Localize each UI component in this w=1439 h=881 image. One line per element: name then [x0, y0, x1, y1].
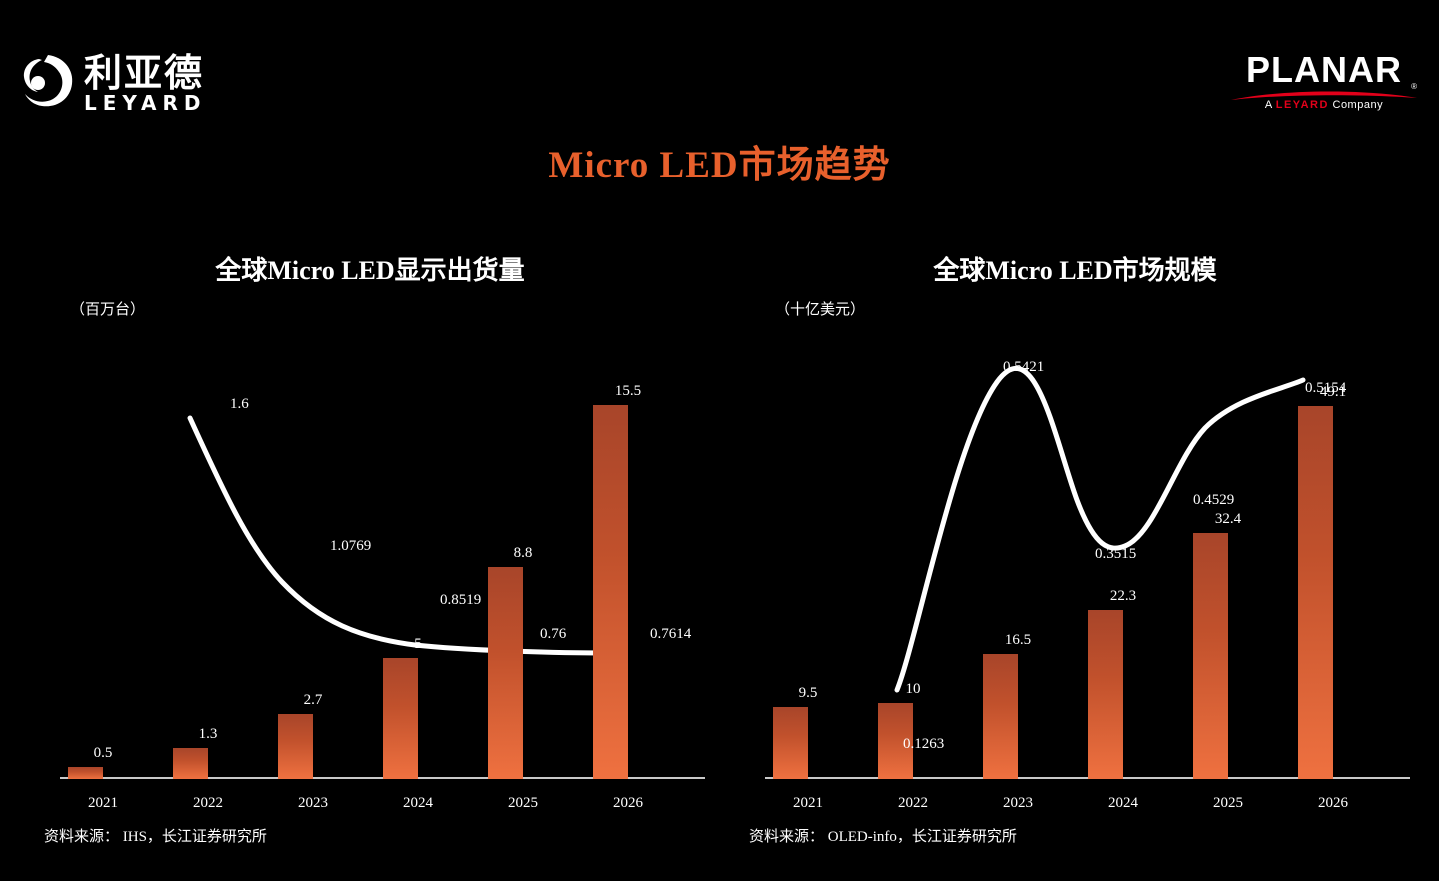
- leyard-logo: 利亚德 LEYARD: [18, 52, 218, 114]
- chart-unit-shipments: （百万台）: [70, 298, 145, 319]
- line-value-label-2025: 0.4529: [1193, 492, 1234, 509]
- planar-logo-word: PLANAR: [1229, 52, 1419, 88]
- slide-root: 利亚德 LEYARD PLANAR ® A LEYARD Company Mic…: [0, 0, 1439, 881]
- chart-panel-shipments: 全球Micro LED显示出货量 （百万台） 0.520211.320222.7…: [20, 240, 720, 860]
- x-axis-label-2021: 2021: [63, 795, 143, 812]
- bar-value-label-2024: 22.3: [1083, 588, 1163, 605]
- planar-logo: PLANAR ® A LEYARD Company: [1229, 52, 1419, 114]
- bar-2023: [983, 654, 1018, 779]
- line-value-label-2024: 0.8519: [440, 592, 481, 609]
- bar-2021: [68, 767, 103, 779]
- bar-value-label-2024: 5: [378, 636, 458, 653]
- bar-value-label-2021: 9.5: [768, 685, 848, 702]
- leyard-logo-english: LEYARD: [84, 92, 206, 114]
- leyard-swirl-icon: [18, 52, 76, 110]
- x-axis-label-2026: 2026: [588, 795, 668, 812]
- bar-value-label-2021: 0.5: [63, 745, 143, 762]
- bar-2025: [1193, 533, 1228, 779]
- line-value-label-2022: 1.6: [230, 396, 249, 413]
- bar-2022: [173, 748, 208, 779]
- x-axis-label-2026: 2026: [1293, 795, 1373, 812]
- line-value-label-2025: 0.76: [540, 626, 566, 643]
- bar-value-label-2022: 1.3: [168, 726, 248, 743]
- bar-value-label-2023: 2.7: [273, 692, 353, 709]
- chart-plot-area-shipments: 0.520211.320222.72023520248.8202515.5202…: [20, 320, 720, 820]
- line-value-label-2026: 0.5154: [1305, 380, 1346, 397]
- x-axis-label-2023: 2023: [273, 795, 353, 812]
- x-axis-label-2022: 2022: [168, 795, 248, 812]
- planar-tagline-prefix: A: [1265, 99, 1276, 111]
- bar-value-label-2025: 8.8: [483, 545, 563, 562]
- chart-source-shipments: 资料来源： IHS，长江证券研究所: [44, 825, 267, 846]
- leyard-logo-chinese: 利亚德: [84, 52, 204, 94]
- chart-source-market-size: 资料来源： OLED-info，长江证券研究所: [749, 825, 1017, 846]
- bar-2026: [1298, 406, 1333, 779]
- bar-value-label-2025: 32.4: [1188, 511, 1268, 528]
- bar-2025: [488, 567, 523, 779]
- x-axis-label-2025: 2025: [1188, 795, 1268, 812]
- line-value-label-2023: 1.0769: [330, 538, 371, 555]
- x-axis-label-2024: 2024: [1083, 795, 1163, 812]
- chart-title-shipments: 全球Micro LED显示出货量: [20, 250, 720, 287]
- bar-2026: [593, 405, 628, 779]
- bar-2024: [383, 658, 418, 779]
- bar-value-label-2026: 15.5: [588, 383, 668, 400]
- bar-2023: [278, 714, 313, 779]
- chart-panel-market-size: 全球Micro LED市场规模 （十亿美元） 9.5202110202216.5…: [725, 240, 1425, 860]
- x-axis-label-2023: 2023: [978, 795, 1058, 812]
- x-axis-label-2025: 2025: [483, 795, 563, 812]
- chart-title-market-size: 全球Micro LED市场规模: [725, 250, 1425, 287]
- line-value-label-2026: 0.7614: [650, 626, 691, 643]
- bar-value-label-2023: 16.5: [978, 632, 1058, 649]
- bar-2024: [1088, 610, 1123, 779]
- page-title: Micro LED市场趋势: [0, 134, 1439, 188]
- line-value-label-2022: 0.1263: [903, 736, 944, 753]
- line-value-label-2023: 0.5421: [1003, 359, 1044, 376]
- chart-unit-market-size: （十亿美元）: [775, 298, 865, 319]
- chart-plot-area-market-size: 9.5202110202216.5202322.3202432.4202549.…: [725, 320, 1425, 820]
- bar-2021: [773, 707, 808, 779]
- planar-logo-tagline: A LEYARD Company: [1229, 99, 1419, 111]
- x-axis-label-2021: 2021: [768, 795, 848, 812]
- x-axis-label-2024: 2024: [378, 795, 458, 812]
- planar-tagline-suffix: Company: [1329, 99, 1383, 111]
- line-value-label-2024: 0.3515: [1095, 546, 1136, 563]
- bar-value-label-2022: 10: [873, 681, 953, 698]
- x-axis-label-2022: 2022: [873, 795, 953, 812]
- planar-tagline-brand: LEYARD: [1276, 99, 1329, 111]
